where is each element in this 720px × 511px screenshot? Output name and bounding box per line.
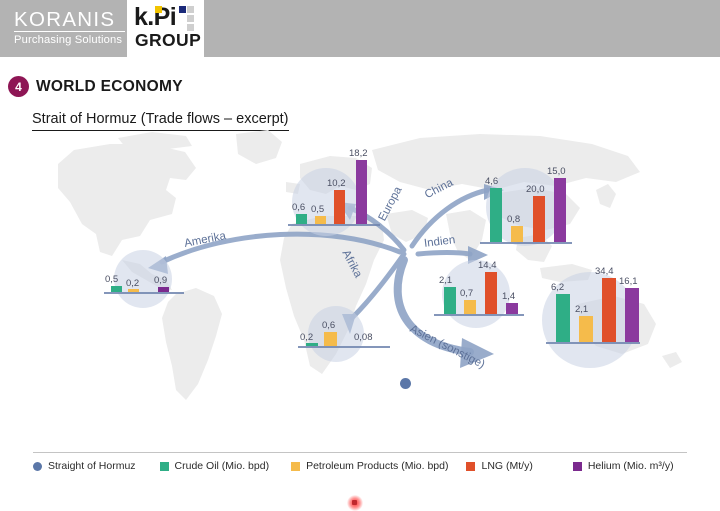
kpi-group-logo: k.Pi GROUP (127, 0, 204, 57)
section-number-badge: 4 (8, 76, 29, 97)
map-stage: Amerika Europa China Indien Afrika Asien… (0, 128, 720, 433)
kpi-square-grey-2 (187, 15, 194, 22)
bar-value-lng-asien: 34,4 (595, 266, 614, 277)
cluster-baseline-asien (546, 342, 640, 344)
bar-value-crude-oil-asien: 6,2 (551, 282, 564, 293)
bar-crude-oil-amerika (111, 286, 122, 292)
legend-label-helium: Helium (Mio. m³/y) (588, 460, 674, 472)
bar-value-crude-oil-china: 4,6 (485, 176, 498, 187)
bar-lng-indien (485, 272, 497, 314)
legend-label-lng: LNG (Mt/y) (481, 460, 532, 472)
bar-helium-amerika (158, 287, 169, 292)
bar-value-crude-oil-europa: 0,6 (292, 202, 305, 213)
brand-name: KORANIS (14, 9, 129, 30)
cluster-indien: 2,1 0,7 14,4 1,4 (432, 250, 534, 320)
legend-label-petroleum: Petroleum Products (Mio. bpd) (306, 460, 448, 472)
bar-value-helium-amerika: 0,9 (154, 275, 167, 286)
cluster-europa: 0,6 0,5 10,2 18,2 (286, 128, 396, 230)
bar-value-crude-oil-amerika: 0,5 (105, 274, 118, 285)
kpi-logo-mark: k.Pi (134, 6, 198, 32)
bar-value-petroleum-asien: 2,1 (575, 304, 588, 315)
cluster-baseline-europa (288, 224, 380, 226)
bar-lng-asien (602, 278, 616, 342)
cluster-asien: 6,2 2,1 34,4 16,1 (538, 254, 652, 350)
legend-item-hormuz: Straight of Hormuz (33, 455, 136, 477)
legend-item-petroleum: Petroleum Products (Mio. bpd) (291, 455, 448, 477)
bar-value-helium-china: 15,0 (547, 166, 566, 177)
bar-value-petroleum-afrika: 0,6 (322, 320, 335, 331)
bar-crude-oil-asien (556, 294, 570, 342)
bar-crude-oil-indien (444, 287, 456, 314)
brand-rule (14, 31, 125, 32)
legend-swatch-helium-icon (573, 462, 582, 471)
cluster-baseline-indien (434, 314, 524, 316)
bar-petroleum-amerika (128, 289, 139, 292)
bar-value-petroleum-europa: 0,5 (311, 204, 324, 215)
bar-value-lng-china: 20,0 (526, 184, 545, 195)
koranis-logo: KORANIS Purchasing Solutions (14, 9, 129, 49)
bar-value-crude-oil-indien: 2,1 (439, 275, 452, 286)
bar-value-petroleum-amerika: 0,2 (126, 278, 139, 289)
bar-value-petroleum-indien: 0,7 (460, 288, 473, 299)
cluster-baseline-afrika (298, 346, 390, 348)
bar-petroleum-indien (464, 300, 476, 314)
bar-value-lng-indien: 14,4 (478, 260, 497, 271)
bar-petroleum-afrika (324, 332, 337, 346)
cluster-china: 4,6 0,8 20,0 15,0 (478, 146, 583, 244)
kpi-square-grey-1 (187, 6, 194, 13)
legend: Straight of Hormuz Crude Oil (Mio. bpd) … (33, 455, 693, 477)
legend-swatch-crude-oil-icon (160, 462, 169, 471)
bar-lng-china (533, 196, 545, 242)
bar-value-petroleum-china: 0,8 (507, 214, 520, 225)
brand-tagline: Purchasing Solutions (14, 34, 129, 46)
bar-value-crude-oil-afrika: 0,2 (300, 332, 313, 343)
bar-crude-oil-afrika (306, 343, 318, 346)
bar-crude-oil-china (490, 188, 502, 242)
hormuz-hub-dot[interactable] (400, 378, 411, 389)
kpi-square-blue (179, 6, 186, 13)
legend-swatch-lng-icon (466, 462, 475, 471)
bar-value-helium-asien: 16,1 (619, 276, 638, 287)
legend-item-lng: LNG (Mt/y) (466, 455, 532, 477)
cluster-afrika: 0,2 0,6 0,08 (292, 306, 402, 362)
bar-value-helium-indien: 1,4 (502, 291, 515, 302)
bar-crude-oil-europa (296, 214, 307, 224)
cluster-baseline-amerika (104, 292, 184, 294)
bar-petroleum-china (511, 226, 523, 242)
legend-item-crude-oil: Crude Oil (Mio. bpd) (160, 455, 270, 477)
page-title: WORLD ECONOMY (36, 76, 183, 97)
bar-value-lng-europa: 10,2 (327, 178, 346, 189)
legend-label-crude-oil: Crude Oil (Mio. bpd) (175, 460, 270, 472)
bar-lng-europa (334, 190, 345, 224)
bar-value-helium-europa: 18,2 (349, 148, 368, 159)
bar-helium-china (554, 178, 566, 242)
cluster-amerika: 0,5 0,2 0,9 (96, 250, 192, 302)
bar-helium-asien (625, 288, 639, 342)
bar-petroleum-asien (579, 316, 593, 342)
legend-divider (33, 452, 687, 453)
legend-label-hormuz: Straight of Hormuz (48, 460, 136, 472)
bar-helium-europa (356, 160, 367, 224)
bar-petroleum-europa (315, 216, 326, 224)
legend-item-helium: Helium (Mio. m³/y) (573, 455, 674, 477)
kpi-logo-group-text: GROUP (135, 31, 201, 50)
legend-swatch-petroleum-icon (291, 462, 300, 471)
cluster-baseline-china (480, 242, 572, 244)
kpi-square-yellow (155, 6, 162, 13)
south-africa-marker[interactable] (352, 500, 357, 505)
bar-value-helium-afrika: 0,08 (354, 332, 373, 343)
legend-swatch-hormuz-icon (33, 462, 42, 471)
bar-helium-indien (506, 303, 518, 314)
